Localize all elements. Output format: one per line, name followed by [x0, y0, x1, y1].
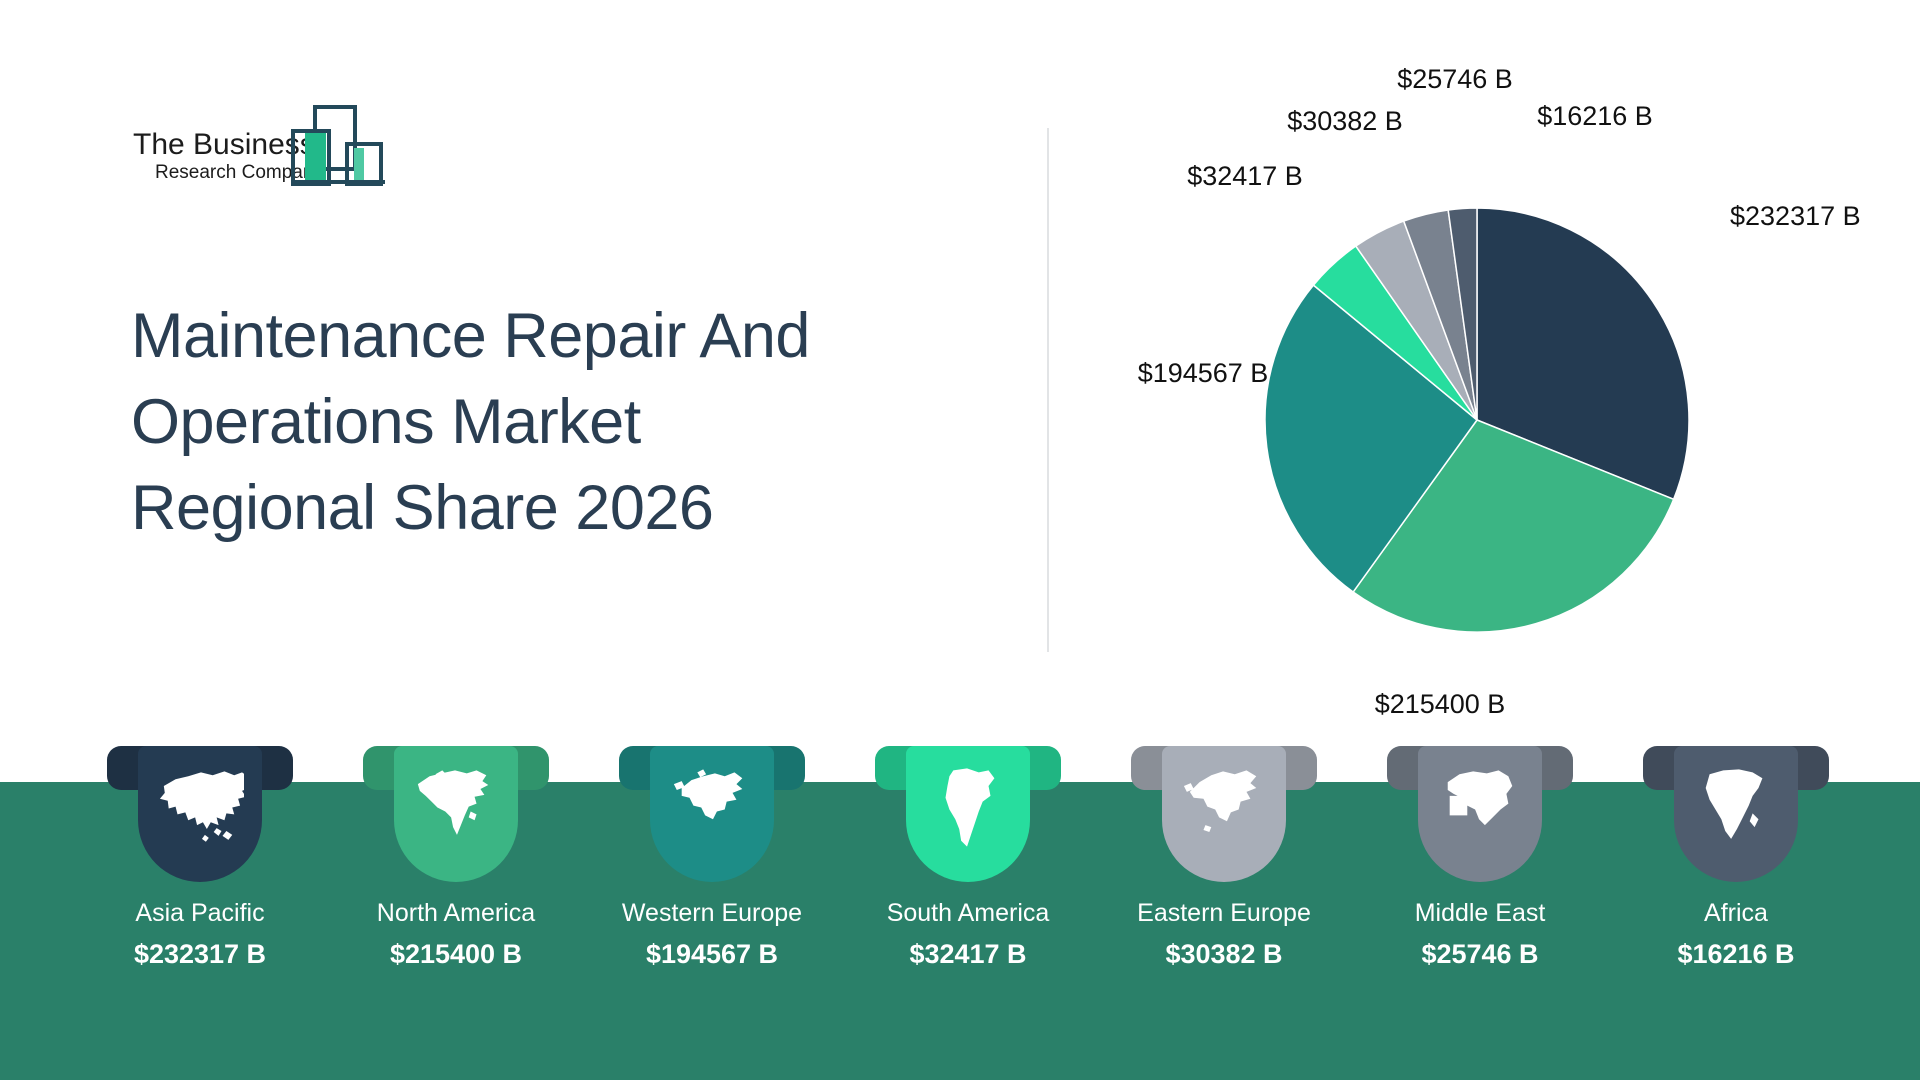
- region-name: Asia Pacific: [107, 900, 293, 928]
- north-america-map-icon: [412, 766, 500, 854]
- middle-east-map-icon: [1436, 766, 1524, 854]
- badge-shield: [138, 746, 262, 882]
- badge-shield: [906, 746, 1030, 882]
- region-name: Middle East: [1387, 900, 1573, 928]
- region-badge: [107, 746, 293, 882]
- region-value: $232317 B: [107, 940, 293, 970]
- regional-share-pie-chart: $232317 B$215400 B$194567 B$32417 B$3038…: [1040, 40, 1920, 740]
- region-card-north-america[interactable]: North America$215400 B: [363, 746, 549, 969]
- badge-shield: [1418, 746, 1542, 882]
- region-card-africa[interactable]: Africa$16216 B: [1643, 746, 1829, 969]
- pie-value-label: $215400 B: [1375, 689, 1506, 719]
- pie-value-label: $25746 B: [1397, 64, 1513, 94]
- region-badge: [619, 746, 805, 882]
- region-badge: [1131, 746, 1317, 882]
- region-name: Eastern Europe: [1131, 900, 1317, 928]
- south-america-map-icon: [924, 766, 1012, 854]
- region-value: $16216 B: [1643, 940, 1829, 970]
- africa-map-icon: [1692, 766, 1780, 854]
- company-logo: The Business Research Company: [133, 104, 423, 190]
- logo-text-line1: The Business: [133, 128, 315, 161]
- region-badge: [363, 746, 549, 882]
- pie-value-label: $194567 B: [1138, 358, 1269, 388]
- pie-slice-group: [1265, 208, 1689, 632]
- page-title-line-3: Regional Share 2026: [131, 466, 991, 552]
- region-value: $25746 B: [1387, 940, 1573, 970]
- region-badge: [1643, 746, 1829, 882]
- page-title-line-1: Maintenance Repair And: [131, 294, 991, 380]
- region-card-eastern-europe[interactable]: Eastern Europe$30382 B: [1131, 746, 1317, 969]
- pie-value-label: $232317 B: [1730, 201, 1861, 231]
- region-card-middle-east[interactable]: Middle East$25746 B: [1387, 746, 1573, 969]
- region-badge: [875, 746, 1061, 882]
- pie-value-label: $30382 B: [1287, 106, 1403, 136]
- badge-shield: [1162, 746, 1286, 882]
- logo-text-line2: Research Company: [155, 162, 323, 183]
- region-name: South America: [875, 900, 1061, 928]
- bar-chart-logo-icon: The Business Research Company: [133, 104, 423, 190]
- region-value: $194567 B: [619, 940, 805, 970]
- region-legend-cards: Asia Pacific$232317 BNorth America$21540…: [0, 746, 1920, 1080]
- pie-chart-svg: $232317 B$215400 B$194567 B$32417 B$3038…: [1040, 40, 1920, 740]
- region-value: $32417 B: [875, 940, 1061, 970]
- eastern-europe-map-icon: [1180, 766, 1268, 854]
- region-value: $30382 B: [1131, 940, 1317, 970]
- region-name: Western Europe: [619, 900, 805, 928]
- region-name: North America: [363, 900, 549, 928]
- infographic-canvas: The Business Research Company Maintenanc…: [0, 0, 1920, 1080]
- region-name: Africa: [1643, 900, 1829, 928]
- badge-shield: [394, 746, 518, 882]
- page-title: Maintenance Repair And Operations Market…: [131, 294, 991, 551]
- pie-value-label: $16216 B: [1537, 101, 1653, 131]
- region-badge: [1387, 746, 1573, 882]
- page-title-line-2: Operations Market: [131, 380, 991, 466]
- region-card-western-europe[interactable]: Western Europe$194567 B: [619, 746, 805, 969]
- region-value: $215400 B: [363, 940, 549, 970]
- western-europe-map-icon: [668, 766, 756, 854]
- region-card-south-america[interactable]: South America$32417 B: [875, 746, 1061, 969]
- region-card-asia-pacific[interactable]: Asia Pacific$232317 B: [107, 746, 293, 969]
- badge-shield: [1674, 746, 1798, 882]
- pie-value-label: $32417 B: [1187, 161, 1303, 191]
- asia-pacific-map-icon: [156, 766, 244, 854]
- badge-shield: [650, 746, 774, 882]
